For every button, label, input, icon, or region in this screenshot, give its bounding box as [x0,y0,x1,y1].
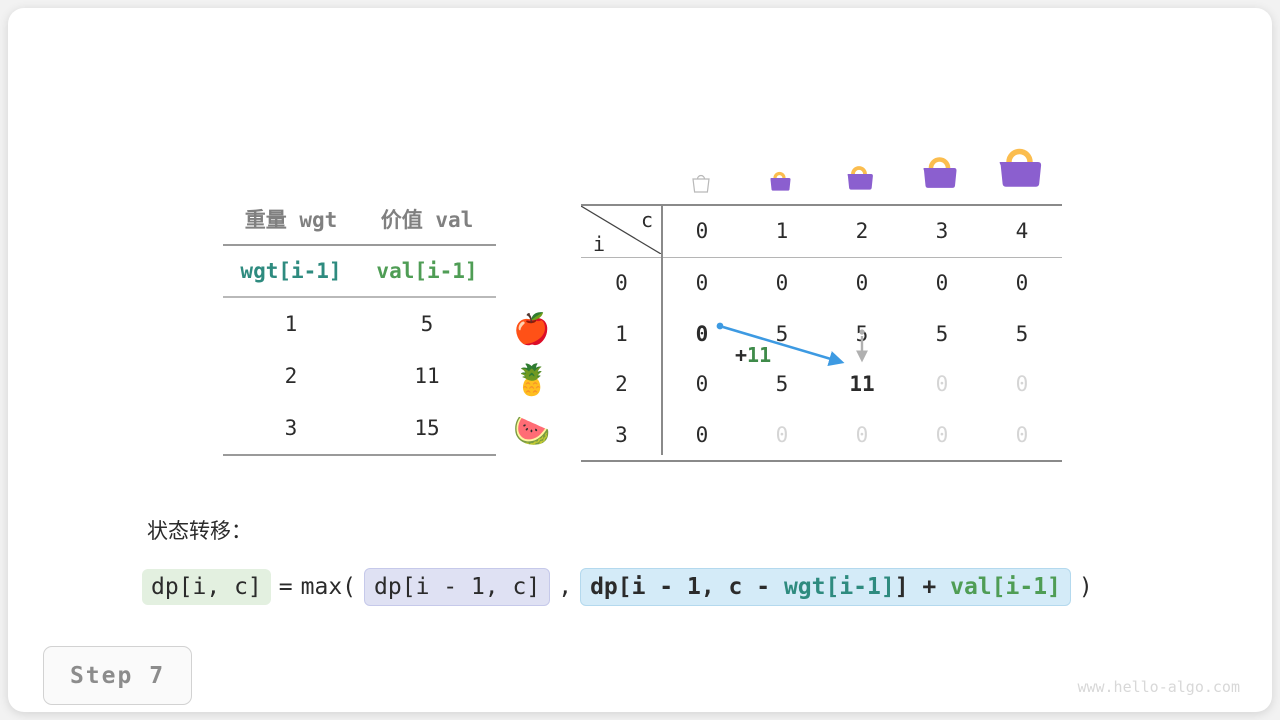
items-wgt-3: 3 [223,402,359,454]
items-subheader-row: wgt[i-1] val[i-1] [223,246,496,296]
bag-icon-0 [661,170,741,198]
dp-table: 0 1 2 3 4 0 0 0 0 0 0 1 0 5 5 5 5 [581,204,1062,462]
formula-option-skip: dp[i - 1, c] [364,568,550,606]
transition-formula: dp[i, c] = max( dp[i - 1, c] , dp[i - 1,… [142,568,1101,606]
bag-icon-row [581,136,1062,198]
items-rule-bottom [223,454,496,456]
step-badge: Step 7 [43,646,192,705]
transition-label: 状态转移： [147,515,252,545]
formula-equals: = [271,574,301,600]
formula-max-open: max( [301,574,356,600]
dp-arrow-layer [581,204,1062,459]
watermark: www.hello-algo.com [1077,678,1240,696]
items-header-val: 价值 val [359,198,495,244]
items-wgt-1: 1 [223,298,359,350]
items-val-1: 5 [359,298,495,350]
items-subheader-val: val[i-1] [359,246,495,296]
bag-icon-2 [821,160,901,198]
items-wgt-2: 2 [223,350,359,402]
bag-icon-3 [901,150,981,198]
items-row: 3 15 [223,402,496,454]
formula-take-val: val[i-1] [950,574,1061,600]
items-val-2: 11 [359,350,495,402]
items-header-row: 重量 wgt 价值 val [223,198,496,244]
arrow-source-dot [717,323,724,330]
formula-close-paren: ) [1071,574,1101,600]
pineapple-icon: 🍍 [513,355,550,406]
apple-icon: 🍎 [513,304,550,355]
slide-card: 重量 wgt 价值 val wgt[i-1] val[i-1] 1 5 2 11… [8,8,1272,712]
fruit-icon-column: 🍎 🍍 🍉 [513,304,550,457]
formula-comma: , [550,574,580,600]
items-table: 重量 wgt 价值 val wgt[i-1] val[i-1] 1 5 2 11… [223,198,496,456]
formula-option-take: dp[i - 1, c - wgt[i-1]] + val[i-1] [580,568,1071,606]
value-gain-annotation: +11 [735,343,771,367]
gain-plus-sign: + [735,343,747,367]
dp-rule-bottom [581,460,1062,462]
bag-icon-1 [741,166,821,198]
formula-take-pre: dp[i - 1, c - [590,574,784,600]
items-subheader-wgt: wgt[i-1] [223,246,359,296]
dp-grid: 0 1 2 3 4 0 0 0 0 0 0 1 0 5 5 5 5 [581,204,1062,462]
formula-target: dp[i, c] [142,569,271,605]
items-row: 1 5 [223,298,496,350]
watermelon-icon: 🍉 [513,406,550,457]
bag-icon-4 [981,140,1061,198]
formula-take-wgt: wgt[i-1] [784,574,895,600]
items-header-wgt: 重量 wgt [223,198,359,244]
formula-take-mid: ] + [895,574,950,600]
gain-amount: 11 [747,343,771,367]
items-val-3: 15 [359,402,495,454]
grey-arrow-dot [859,329,864,334]
items-row: 2 11 [223,350,496,402]
